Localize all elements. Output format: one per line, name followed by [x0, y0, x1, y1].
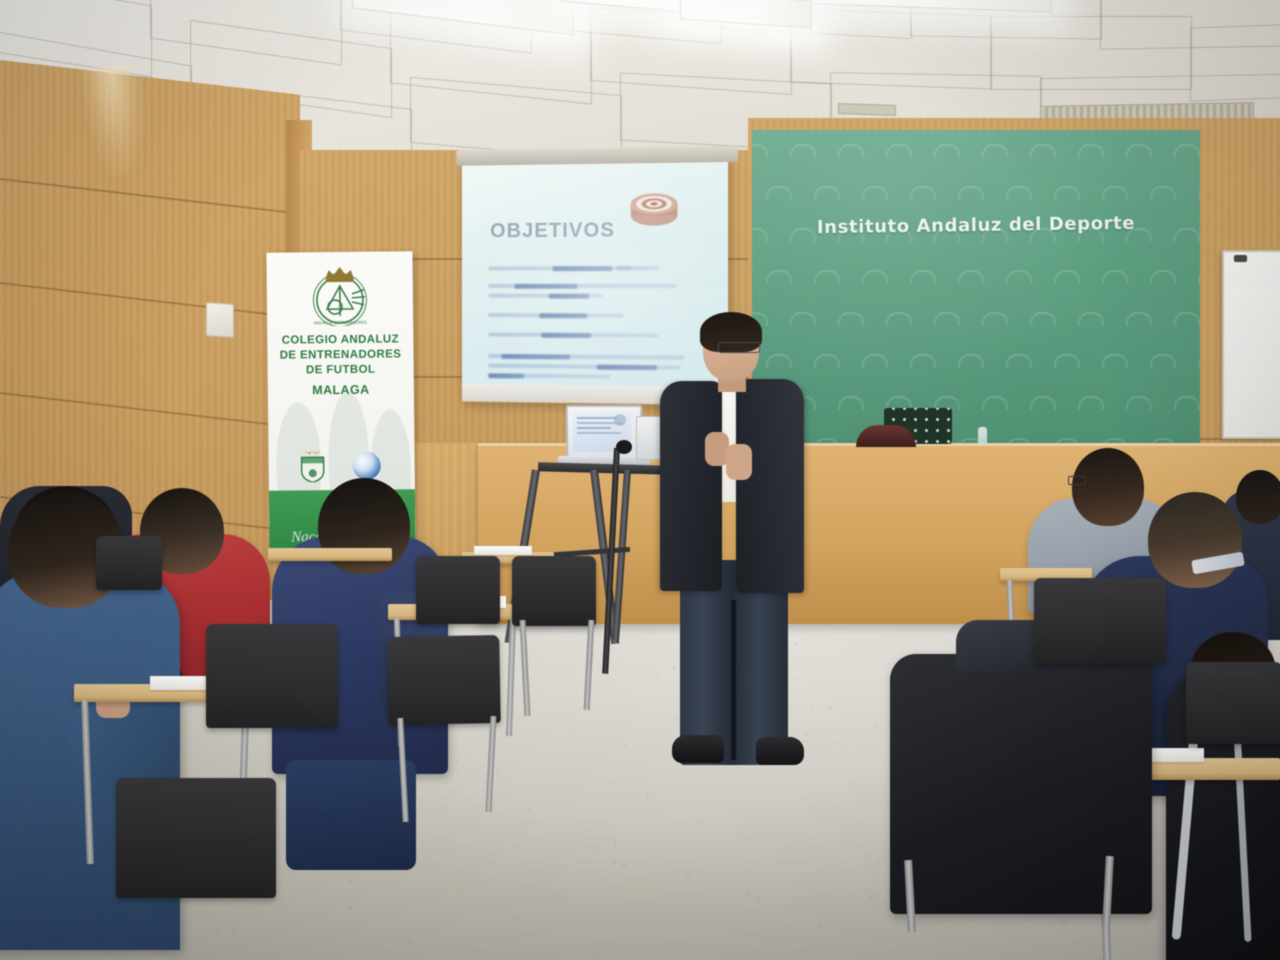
floor-speckle — [447, 957, 449, 959]
laptop-screen — [566, 405, 643, 461]
floor-speckle — [164, 953, 167, 956]
chair[interactable] — [416, 556, 500, 624]
floor-speckle — [1031, 926, 1033, 928]
floor-speckle — [452, 788, 454, 790]
floor-speckle — [760, 924, 762, 926]
floor-speckle — [805, 734, 808, 737]
floor-speckle — [738, 856, 740, 858]
floor-speckle — [292, 957, 294, 959]
federacion-andaluza-crest — [300, 451, 326, 482]
arch-motif-icon — [934, 312, 960, 326]
floor-speckle — [886, 743, 888, 745]
floor-speckle — [616, 807, 618, 809]
arch-motif-icon — [862, 354, 888, 368]
arch-motif-icon — [1126, 396, 1152, 410]
floor-speckle — [226, 948, 229, 951]
projection-screen-assembly: OBJETIVOS — [462, 158, 728, 406]
floor-speckle — [699, 894, 702, 897]
floor-speckle — [592, 849, 595, 852]
desk-paper — [474, 546, 532, 555]
floor-speckle — [492, 806, 495, 809]
arch-motif-icon — [790, 144, 816, 158]
slide-title: OBJETIVOS — [490, 219, 615, 243]
floor-speckle — [560, 946, 563, 949]
arch-motif-icon — [886, 144, 912, 158]
floor-speckle — [295, 953, 297, 955]
arch-motif-icon — [1006, 270, 1032, 284]
floor-speckle — [553, 945, 555, 947]
floor-speckle — [569, 726, 571, 728]
arch-motif-icon — [1030, 396, 1056, 410]
floor-speckle — [883, 717, 884, 718]
floor-speckle — [215, 929, 218, 932]
banner-line-3: DE FUTBOL — [268, 363, 414, 377]
floor-speckle — [685, 933, 686, 934]
arch-motif-icon — [1150, 186, 1176, 200]
floor-speckle — [888, 662, 890, 664]
floor-speckle — [794, 642, 797, 645]
floor-speckle — [916, 640, 918, 642]
arch-motif-icon — [838, 396, 864, 410]
arch-motif-icon — [1054, 186, 1080, 200]
floor-speckle — [439, 816, 440, 817]
arch-motif-icon — [790, 312, 816, 326]
arch-motif-icon — [1198, 270, 1200, 284]
arch-motif-icon — [1126, 312, 1152, 326]
chair[interactable] — [116, 778, 276, 898]
floor-speckle — [265, 953, 268, 956]
presenter-jacket-right — [736, 379, 804, 593]
floor-speckle — [349, 907, 352, 910]
floor-speckle — [616, 742, 618, 744]
floor-speckle — [887, 910, 889, 912]
attendee-grey-sweater-head — [1072, 448, 1144, 526]
floor-speckle — [512, 846, 515, 849]
arch-motif-icon — [1150, 354, 1176, 368]
arch-motif-icon — [838, 144, 864, 158]
floor-speckle — [327, 900, 329, 902]
floor-speckle — [861, 743, 864, 746]
floor-speckle — [1062, 920, 1065, 923]
floor-speckle — [314, 870, 316, 872]
floor-speckle — [615, 797, 616, 798]
floor-speckle — [439, 876, 442, 879]
floor-speckle — [797, 792, 798, 793]
arch-motif-icon — [1030, 144, 1056, 158]
arch-motif-icon — [1174, 144, 1200, 158]
floor-speckle — [679, 893, 681, 895]
floor-speckle — [491, 893, 492, 894]
floor-speckle — [349, 880, 352, 883]
floor-speckle — [279, 901, 282, 904]
floor-speckle — [502, 723, 503, 724]
floor-speckle — [713, 801, 716, 804]
arch-motif-icon — [1054, 354, 1080, 368]
floor-speckle — [464, 800, 466, 802]
floor-speckle — [815, 746, 817, 748]
floor-speckle — [357, 915, 359, 917]
floor-speckle — [937, 919, 938, 920]
green-wall-panel: Instituto Andaluz del Deporte — [752, 130, 1200, 449]
floor-speckle — [823, 750, 825, 752]
arch-motif-icon — [1078, 144, 1104, 158]
floor-speckle — [1077, 936, 1078, 937]
projection-screen: OBJETIVOS — [462, 162, 728, 387]
floor-speckle — [886, 666, 888, 668]
colegio-andaluz-crest: ANDALUZ ENTRENADORES — [300, 264, 381, 327]
spotlight-reflection — [80, 63, 151, 179]
arch-motif-icon — [1150, 270, 1176, 284]
arch-motif-icon — [1054, 270, 1080, 284]
floor-speckle — [308, 916, 311, 919]
floor-speckle — [256, 957, 258, 959]
floor-speckle — [445, 781, 449, 785]
desk-center-back — [268, 548, 392, 561]
water-bottle — [978, 427, 987, 445]
floor-speckle — [357, 899, 359, 901]
floor-speckle — [631, 880, 633, 882]
arch-motif-icon — [910, 270, 936, 284]
floor-speckle — [232, 928, 235, 931]
chair[interactable] — [1186, 662, 1280, 744]
chair[interactable] — [512, 556, 596, 626]
arch-motif-icon — [910, 186, 936, 200]
floor-speckle — [803, 930, 805, 932]
floor-speckle — [217, 751, 219, 753]
floor-speckle — [640, 911, 643, 914]
whiteboard-clip-icon — [1234, 255, 1247, 262]
arch-motif-icon — [1102, 354, 1128, 368]
floor-speckle — [679, 859, 682, 862]
arch-motif-icon — [1102, 270, 1128, 284]
floor-speckle — [407, 940, 411, 944]
floor-speckle — [356, 876, 357, 877]
floor-speckle — [870, 676, 872, 678]
presenter-leg-seam — [731, 600, 736, 760]
floor-speckle — [403, 943, 406, 946]
arch-motif-icon — [982, 144, 1008, 158]
light-switch[interactable] — [206, 302, 234, 338]
floor-speckle — [646, 793, 648, 795]
floor-speckle — [819, 923, 823, 927]
arch-motif-icon — [814, 186, 840, 200]
floor-speckle — [812, 820, 814, 822]
floor-speckle — [634, 849, 636, 851]
floor-speckle — [528, 808, 531, 811]
arch-motif-icon — [1078, 396, 1104, 410]
football-globe-logo — [353, 452, 381, 480]
arch-motif-icon — [1102, 186, 1128, 200]
floor-speckle — [570, 675, 573, 678]
microphone-head-icon — [616, 440, 632, 454]
arch-motif-icon — [982, 312, 1008, 326]
floor-speckle — [821, 773, 823, 775]
arch-motif-icon — [766, 186, 792, 200]
floor-speckle — [553, 895, 556, 898]
floor-speckle — [858, 845, 860, 847]
floor-speckle — [787, 924, 789, 926]
arch-motif-icon — [862, 186, 888, 200]
floor-speckle — [811, 858, 814, 861]
conference-room-photo: Instituto Andaluz del Deporte OBJETIVOS — [0, 0, 1280, 960]
eyeglasses-icon — [718, 342, 760, 353]
arch-motif-icon — [958, 354, 984, 368]
arch-motif-icon — [1126, 144, 1152, 158]
floor-speckle — [758, 900, 761, 903]
floor-speckle — [686, 873, 689, 876]
air-vent — [838, 103, 896, 116]
chair[interactable] — [206, 624, 338, 728]
attendee-navy-sweater-legs — [286, 760, 416, 870]
arch-motif-icon — [814, 354, 840, 368]
floor-speckle — [673, 666, 676, 669]
arch-motif-icon — [958, 270, 984, 284]
arch-motif-icon — [982, 396, 1008, 410]
floor-speckle — [850, 785, 852, 787]
floor-speckle — [772, 877, 774, 879]
floor-speckle — [520, 693, 522, 695]
floor-speckle — [287, 885, 289, 887]
arch-motif-icon — [838, 312, 864, 326]
banner-line-1: COLEGIO ANDALUZ — [267, 333, 413, 347]
floor-speckle — [190, 709, 192, 711]
floor-speckle — [282, 925, 284, 927]
floor-speckle — [456, 759, 459, 762]
arch-motif-icon — [766, 354, 792, 368]
arch-motif-icon — [862, 270, 888, 284]
arch-motif-icon — [1078, 312, 1104, 326]
floor-speckle — [828, 706, 831, 709]
presenter-hand-right — [726, 444, 752, 480]
floor-speckle — [631, 786, 635, 790]
floor-speckle — [809, 764, 811, 766]
arch-motif-icon — [752, 144, 768, 158]
floor-speckle — [868, 896, 871, 899]
attendee-dark-blue-jacket-head — [1236, 470, 1280, 524]
chair[interactable] — [1034, 578, 1166, 664]
floor-speckle — [460, 890, 462, 892]
floor-speckle — [902, 647, 904, 649]
floor-speckle — [595, 955, 598, 958]
arch-motif-icon — [886, 312, 912, 326]
floor-speckle — [1076, 941, 1079, 944]
floor-speckle — [613, 861, 616, 864]
floor-speckle — [545, 916, 547, 918]
floor-speckle — [578, 792, 579, 793]
floor-speckle — [876, 725, 878, 727]
floor-speckle — [831, 740, 834, 743]
floor-speckle — [846, 747, 848, 749]
floor-speckle — [583, 860, 586, 863]
floor-speckle — [624, 744, 627, 747]
arch-motif-icon — [1174, 396, 1200, 410]
presenter-shoe-right — [756, 737, 804, 765]
arch-motif-icon — [1174, 312, 1200, 326]
floor-speckle — [663, 866, 665, 868]
floor-speckle — [513, 915, 516, 918]
arch-motif-icon — [1006, 354, 1032, 368]
floor-speckle — [725, 941, 727, 943]
floor-speckle — [428, 786, 430, 788]
floor-speckle — [747, 892, 750, 895]
floor-speckle — [837, 688, 839, 690]
floor-speckle — [485, 738, 488, 741]
arch-motif-icon — [1198, 186, 1200, 200]
target-bullseye-icon — [626, 185, 683, 231]
stand-top-rail — [538, 462, 670, 474]
arch-motif-icon — [958, 186, 984, 200]
arch-motif-icon — [814, 270, 840, 284]
floor-speckle — [517, 918, 520, 921]
attendee-grey-sweater-glasses-icon — [1068, 476, 1086, 485]
floor-speckle — [573, 741, 574, 742]
floor-speckle — [674, 715, 677, 718]
floor-speckle — [802, 863, 804, 865]
floor-speckle — [726, 805, 728, 807]
podium-chair-seat — [856, 425, 916, 447]
presenter-jacket-left — [660, 381, 722, 591]
floor-speckle — [520, 749, 522, 751]
floor-speckle — [576, 821, 578, 823]
floor-speckle — [732, 898, 733, 899]
arch-motif-icon — [910, 354, 936, 368]
floor-speckle — [796, 678, 799, 681]
floor-speckle — [359, 936, 362, 939]
arch-motif-icon — [1198, 354, 1200, 368]
floor-speckle — [525, 913, 527, 915]
arch-motif-icon — [1030, 312, 1056, 326]
presenter-shoe-left — [672, 735, 724, 763]
floor-speckle — [535, 871, 538, 874]
floor-speckle — [622, 864, 625, 867]
chair[interactable] — [96, 536, 162, 590]
floor-speckle — [794, 656, 795, 657]
floor-speckle — [656, 674, 660, 678]
floor-speckle — [452, 884, 455, 887]
floor-speckle — [520, 841, 522, 843]
banner-line-2: DE ENTRENADORES — [267, 348, 413, 362]
floor-speckle — [280, 907, 282, 909]
banner-line-4: MALAGA — [268, 382, 414, 398]
floor-speckle — [609, 781, 612, 784]
arch-motif-icon — [766, 270, 792, 284]
arch-motif-icon — [1006, 186, 1032, 200]
floor-speckle — [877, 861, 879, 863]
floor-speckle — [614, 841, 616, 843]
floor-speckle — [602, 877, 605, 880]
floor-speckle — [809, 844, 811, 846]
floor-speckle — [476, 784, 477, 785]
floor-speckle — [758, 950, 761, 953]
floor-speckle — [811, 705, 814, 708]
floor-speckle — [666, 874, 669, 877]
floor-speckle — [733, 904, 735, 906]
floor-speckle — [496, 772, 499, 775]
floor-speckle — [572, 815, 575, 818]
floor-speckle — [527, 957, 528, 958]
arch-motif-icon — [934, 144, 960, 158]
floor-speckle — [791, 704, 794, 707]
floor-speckle — [337, 881, 339, 883]
floor-speckle — [660, 947, 663, 950]
svg-text:ANDALUZ ENTRENADORES: ANDALUZ ENTRENADORES — [313, 320, 367, 326]
floor-speckle — [700, 820, 702, 822]
floor-speckle — [529, 729, 530, 730]
whiteboard[interactable] — [1222, 250, 1280, 439]
chair[interactable] — [387, 635, 501, 725]
